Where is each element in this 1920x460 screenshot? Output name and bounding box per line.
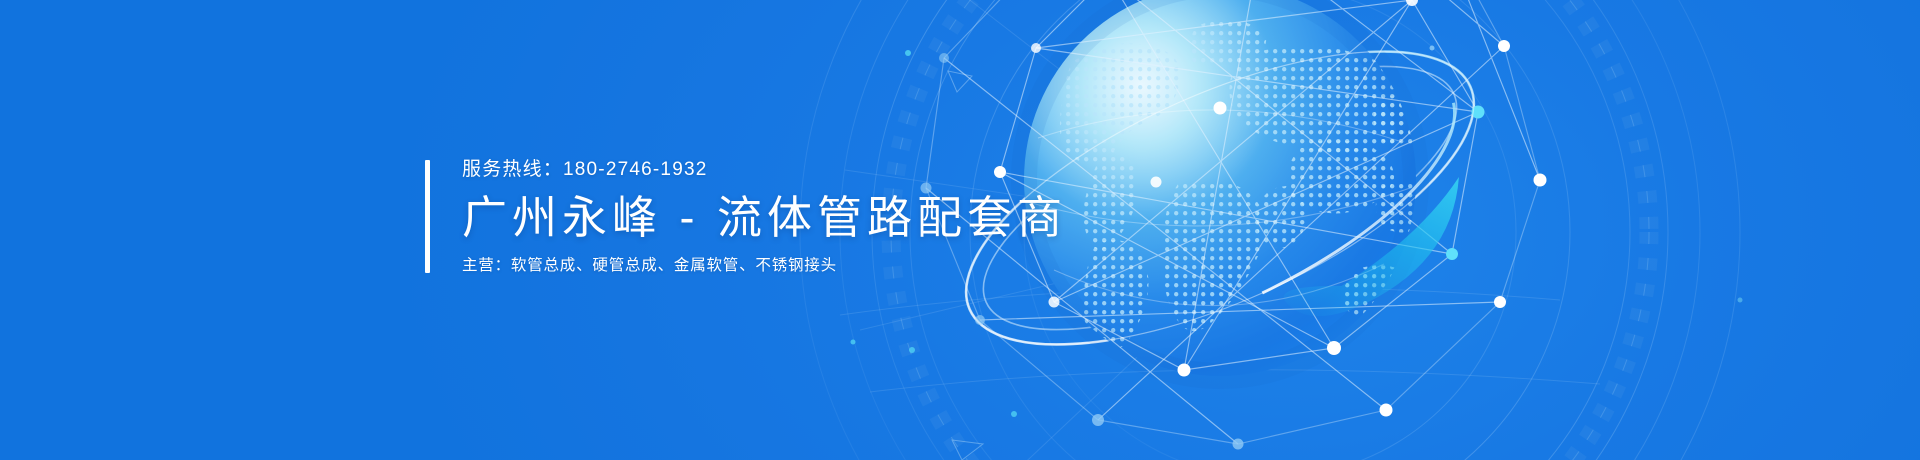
hero-banner: 服务热线：180-2746-1932 广州永峰 - 流体管路配套商 主营：软管总…: [0, 0, 1920, 460]
business-scope: 主营：软管总成、硬管总成、金属软管、不锈钢接头: [462, 258, 1067, 274]
service-hotline: 服务热线：180-2746-1932: [462, 160, 1067, 179]
page-title: 广州永峰 - 流体管路配套商: [462, 194, 1067, 242]
banner-text-column: 服务热线：180-2746-1932 广州永峰 - 流体管路配套商 主营：软管总…: [462, 160, 1067, 273]
globe-sphere: [1024, 0, 1429, 376]
banner-text-block: 服务热线：180-2746-1932 广州永峰 - 流体管路配套商 主营：软管总…: [425, 160, 1067, 273]
accent-bar: [425, 160, 430, 273]
